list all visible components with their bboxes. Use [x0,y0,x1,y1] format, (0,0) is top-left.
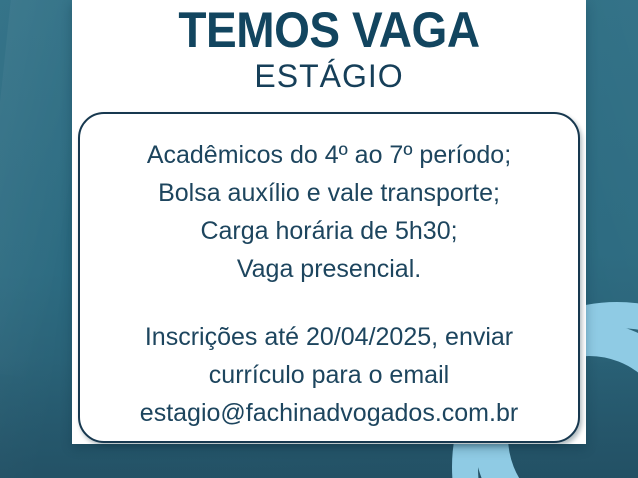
requirement-item: Acadêmicos do 4º ao 7º período; [80,136,578,174]
application-email: estagio@fachinadvogados.com.br [80,394,578,432]
poster-headline: TEMOS VAGA [93,0,566,57]
job-vacancy-poster: TEMOS VAGA ESTÁGIO Acadêmicos do 4º ao 7… [0,0,638,478]
details-card: Acadêmicos do 4º ao 7º período; Bolsa au… [78,112,580,443]
application-deadline-line: Inscrições até 20/04/2025, enviar [80,318,578,356]
requirement-item: Carga horária de 5h30; [80,212,578,250]
requirement-item: Vaga presencial. [80,250,578,288]
application-instructions: Inscrições até 20/04/2025, enviar curríc… [80,318,578,432]
application-method-line: currículo para o email [80,356,578,394]
poster-subheadline: ESTÁGIO [72,57,586,94]
requirements-list: Acadêmicos do 4º ao 7º período; Bolsa au… [80,136,578,288]
requirement-item: Bolsa auxílio e vale transporte; [80,174,578,212]
headline-block: TEMOS VAGA ESTÁGIO [72,0,586,94]
